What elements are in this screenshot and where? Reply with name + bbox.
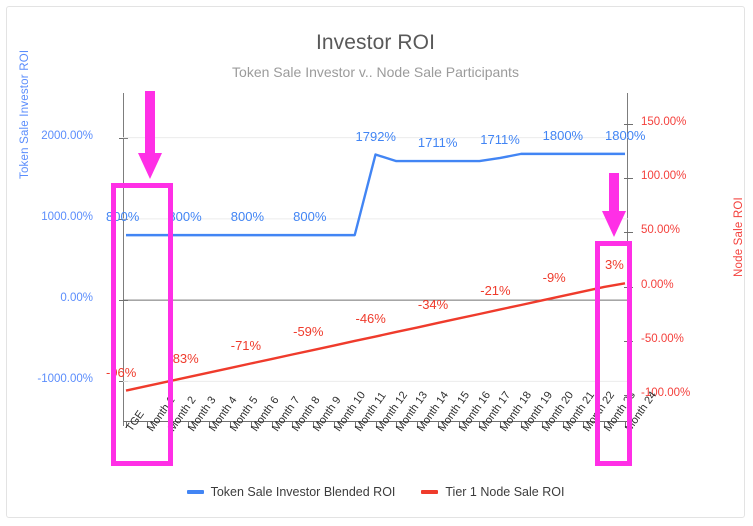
data-point-label: -34% [418,297,448,312]
data-point-label: 800% [293,209,326,224]
plot-area [123,97,628,422]
gridlines [123,138,628,382]
legend-label: Token Sale Investor Blended ROI [211,485,396,499]
y-axis-right-label: Node Sale ROI [733,197,745,277]
data-point-label: 1711% [418,135,458,150]
legend-swatch [421,490,438,494]
legend: Token Sale Investor Blended ROITier 1 No… [7,485,744,499]
annotation-arrow-right [602,173,626,235]
series-canvas [123,97,628,422]
y-axis-right-tick-label: 150.00% [641,116,686,128]
chart-subtitle: Token Sale Investor v.. Node Sale Partic… [7,64,744,80]
y-axis-right-tick-label: 100.00% [641,170,686,182]
y-axis-left-tick-label: -1000.00% [3,373,93,385]
chart-card: Investor ROI Token Sale Investor v.. Nod… [6,6,745,518]
annotation-arrow-left [138,91,162,179]
data-point-label: -46% [356,311,386,326]
y-axis-left-tick-label: 1000.00% [3,211,93,223]
legend-label: Tier 1 Node Sale ROI [445,485,564,499]
highlight-box-left [111,183,173,466]
highlight-box-right [595,241,632,466]
y-axis-right-tick-label: 0.00% [641,279,674,291]
data-point-label: 1792% [356,129,396,144]
data-point-label: 800% [168,209,201,224]
data-point-label: -71% [231,338,261,353]
data-point-label: -9% [543,270,566,285]
series-line-node-sale [126,283,625,390]
legend-item[interactable]: Token Sale Investor Blended ROI [187,485,396,499]
y-axis-left-label: Token Sale Investor ROI [19,19,31,179]
data-point-label: 800% [231,209,264,224]
legend-item[interactable]: Tier 1 Node Sale ROI [421,485,564,499]
data-point-label: 1800% [605,128,645,143]
data-point-label: 1711% [480,132,520,147]
page-title: Investor ROI [7,31,744,55]
y-axis-left-tick-label: 2000.00% [3,130,93,142]
y-axis-right-tick-label: 50.00% [641,224,680,236]
y-axis-right-tick-label: -50.00% [641,333,684,345]
data-point-label: 1800% [543,128,583,143]
data-point-label: -59% [293,324,323,339]
data-point-label: -21% [480,283,510,298]
legend-swatch [187,490,204,494]
y-axis-left-tick-label: 0.00% [3,292,93,304]
